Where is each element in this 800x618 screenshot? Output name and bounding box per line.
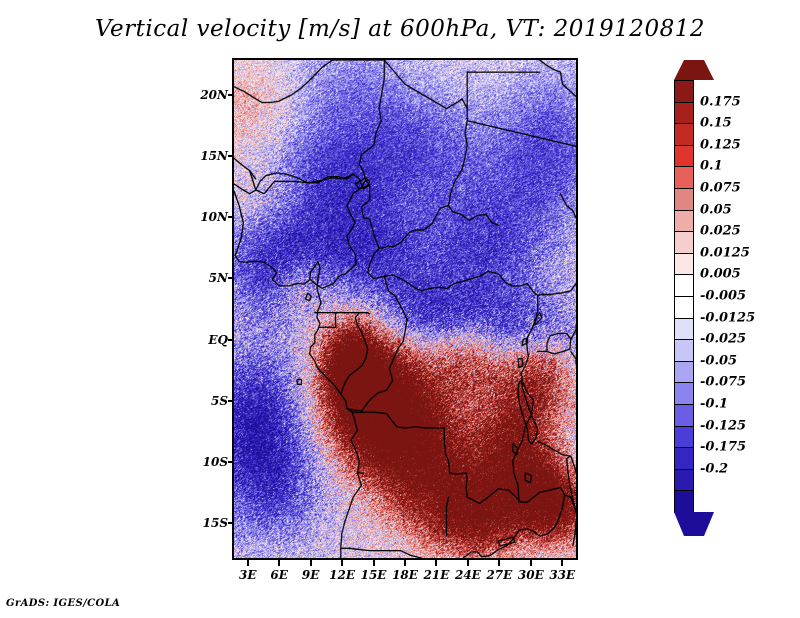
longitude-tick-mark — [404, 560, 406, 566]
colorbar: 0.1750.150.1250.10.0750.050.0250.01250.0… — [666, 60, 796, 560]
colorbar-tick-label: -0.075 — [700, 375, 746, 390]
longitude-tick-mark — [310, 560, 312, 566]
grads-attribution: GrADS: IGES/COLA — [6, 598, 120, 609]
colorbar-segment — [674, 231, 694, 254]
colorbar-segment — [674, 80, 694, 103]
colorbar-tick-label: -0.025 — [700, 332, 746, 347]
longitude-tick-mark — [435, 560, 437, 566]
colorbar-segment — [674, 253, 694, 276]
longitude-tick-label: 24E — [455, 568, 481, 582]
latitude-tick-label: 15N — [200, 149, 228, 163]
colorbar-segment — [674, 145, 694, 168]
colorbar-tick-label: 0.15 — [700, 116, 732, 131]
colorbar-extend-min-arrow — [674, 512, 714, 536]
latitude-tick-label: 5N — [209, 271, 228, 285]
colorbar-segment — [674, 123, 694, 146]
longitude-tick-label: 15E — [361, 568, 387, 582]
colorbar-segment — [674, 102, 694, 125]
latitude-tick-label: 10S — [203, 455, 228, 469]
latitude-tick-label: 5S — [211, 394, 228, 408]
latitude-tick-mark — [228, 522, 234, 524]
latitude-tick-label: 15S — [203, 516, 228, 530]
latitude-axis: 20N15N10N5NEQ5S10S15S — [176, 58, 228, 560]
latitude-tick-mark — [228, 461, 234, 463]
longitude-tick-mark — [498, 560, 500, 566]
latitude-tick-label: EQ — [208, 333, 228, 347]
longitude-tick-mark — [561, 560, 563, 566]
latitude-tick-mark — [228, 94, 234, 96]
colorbar-tick-label: -0.175 — [700, 440, 746, 455]
latitude-tick-mark — [228, 277, 234, 279]
map-plot-area — [232, 58, 578, 560]
longitude-tick-label: 18E — [392, 568, 418, 582]
colorbar-segment — [674, 339, 694, 362]
longitude-tick-label: 33E — [549, 568, 575, 582]
colorbar-segment — [674, 210, 694, 233]
colorbar-segment — [674, 447, 694, 470]
latitude-tick-label: 10N — [200, 210, 228, 224]
colorbar-tick-label: -0.05 — [700, 353, 737, 368]
longitude-tick-label: 3E — [239, 568, 257, 582]
colorbar-tick-label: 0.005 — [700, 267, 741, 282]
colorbar-tick-label: -0.125 — [700, 418, 746, 433]
colorbar-tick-label: 0.1 — [700, 159, 723, 174]
longitude-tick-mark — [341, 560, 343, 566]
colorbar-tick-label: 0.175 — [700, 94, 741, 109]
colorbar-extend-max-arrow — [674, 60, 714, 80]
colorbar-tick-label: -0.005 — [700, 289, 746, 304]
longitude-tick-mark — [467, 560, 469, 566]
colorbar-tick-label: -0.1 — [700, 397, 728, 412]
grads-plot-page: Vertical velocity [m/s] at 600hPa, VT: 2… — [0, 0, 800, 618]
longitude-tick-mark — [278, 560, 280, 566]
longitude-axis: 3E6E9E12E15E18E21E24E27E30E33E — [232, 560, 578, 590]
colorbar-tick-label: 0.05 — [700, 202, 732, 217]
latitude-tick-mark — [228, 155, 234, 157]
colorbar-segment — [674, 318, 694, 341]
colorbar-segment — [674, 188, 694, 211]
colorbar-segment — [674, 296, 694, 319]
colorbar-segment — [674, 361, 694, 384]
longitude-tick-label: 21E — [424, 568, 450, 582]
colorbar-tick-label: 0.0125 — [700, 245, 750, 260]
longitude-tick-label: 27E — [486, 568, 512, 582]
longitude-tick-label: 12E — [329, 568, 355, 582]
colorbar-segment — [674, 469, 694, 492]
colorbar-tick-label: -0.2 — [700, 461, 728, 476]
latitude-tick-mark — [228, 400, 234, 402]
vertical-velocity-field — [234, 60, 576, 558]
colorbar-segment — [674, 166, 694, 189]
latitude-tick-mark — [228, 216, 234, 218]
longitude-tick-label: 6E — [270, 568, 288, 582]
longitude-tick-mark — [530, 560, 532, 566]
colorbar-tick-label: -0.0125 — [700, 310, 755, 325]
colorbar-segment — [674, 382, 694, 405]
colorbar-segment — [674, 426, 694, 449]
latitude-tick-label: 20N — [200, 88, 228, 102]
latitude-tick-mark — [228, 339, 234, 341]
colorbar-segment — [674, 490, 694, 513]
colorbar-tick-label: 0.125 — [700, 137, 741, 152]
longitude-tick-label: 9E — [302, 568, 320, 582]
colorbar-tick-label: 0.075 — [700, 181, 741, 196]
page-title: Vertical velocity [m/s] at 600hPa, VT: 2… — [0, 16, 800, 42]
longitude-tick-label: 30E — [518, 568, 544, 582]
colorbar-tick-label: 0.025 — [700, 224, 741, 239]
colorbar-segment — [674, 404, 694, 427]
longitude-tick-mark — [247, 560, 249, 566]
colorbar-segment — [674, 274, 694, 297]
longitude-tick-mark — [373, 560, 375, 566]
